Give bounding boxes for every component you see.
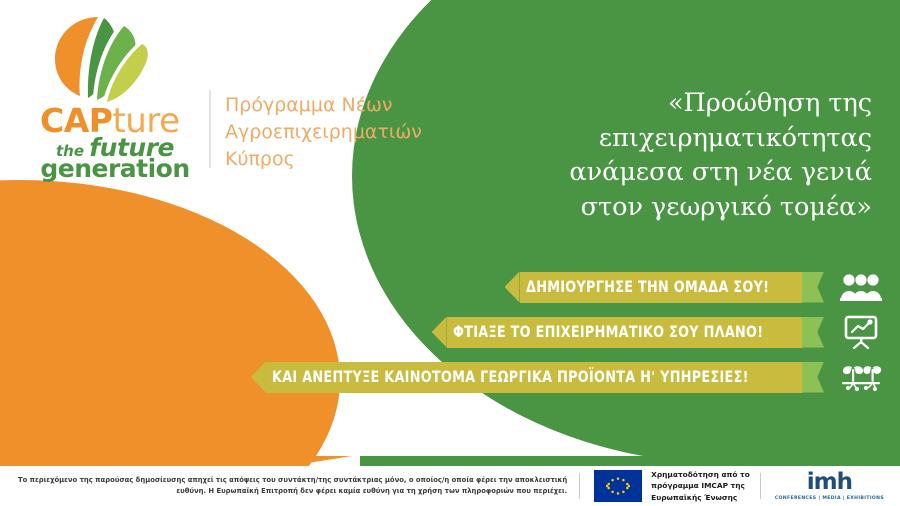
eu-funding-text: Χρηματοδότηση από το πρόγραμμα IMCAP της… xyxy=(651,469,750,503)
imh-logo: imh CONFERENCES | MEDIA | EXHIBITIONS xyxy=(761,471,900,501)
capture-leaf-logo-icon xyxy=(48,14,158,102)
ribbon-body: ΦΤΙΑΞΕ ΤΟ ΕΠΙΧΕΙΡΗΜΑΤΙΚΟ ΣΟΥ ΠΛΑΝΟ! xyxy=(447,317,802,348)
ribbon-body: ΔΗΜΙΟΥΡΓΗΣΕ ΤΗΝ ΟΜΑΔΑ ΣΟΥ! xyxy=(520,272,802,303)
ribbon-tail xyxy=(802,272,824,303)
ribbon-tail xyxy=(802,362,824,393)
logo-block: CAPture the future generation xyxy=(40,14,195,181)
disclaimer-text: Το περιεχόμενο της παρούσας δημοσίευσης … xyxy=(0,475,579,497)
two-seedlings-icon xyxy=(838,360,884,394)
ribbon-shape: ΦΤΙΑΞΕ ΤΟ ΕΠΙΧΕΙΡΗΜΑΤΙΚΟ ΣΟΥ ΠΛΑΝΟ! xyxy=(432,317,824,348)
programme-title: Πρόγραμμα Νέων Αγροεπιχειρηματιών Κύπρος xyxy=(225,92,422,173)
ribbon-body: ΚΑΙ ΑΝΕΠΤΥΞΕ ΚΑΙΝΟΤΟΜΑ ΓΕΩΡΓΙΚΑ ΠΡΟΪΟΝΤΑ… xyxy=(266,362,802,393)
eu-funding-block: Χρηματοδότηση από το πρόγραμμα IMCAP της… xyxy=(580,469,760,503)
three-people-icon xyxy=(838,270,884,304)
ribbon-arrow-head xyxy=(432,317,447,348)
imh-wordmark: imh xyxy=(775,471,884,494)
brand-divider xyxy=(209,90,211,168)
footer-bar-green xyxy=(360,456,900,466)
capture-wordmark: CAPture the future generation xyxy=(40,104,190,181)
ribbon-shape: ΚΑΙ ΑΝΕΠΤΥΞΕ ΚΑΙΝΟΤΟΜΑ ΓΕΩΡΓΙΚΑ ΠΡΟΪΟΝΤΑ… xyxy=(251,362,824,393)
ribbon-tail xyxy=(802,317,824,348)
brand-lockup: CAPture the future generation Πρόγραμμα … xyxy=(40,14,422,181)
ribbon-arrow-head xyxy=(251,362,266,393)
cta-label: ΚΑΙ ΑΝΕΠΤΥΞΕ ΚΑΙΝΟΤΟΜΑ ΓΕΩΡΓΙΚΑ ΠΡΟΪΟΝΤΑ… xyxy=(272,368,749,386)
presentation-board-icon xyxy=(838,315,884,349)
cta-label: ΦΤΙΑΞΕ ΤΟ ΕΠΙΧΕΙΡΗΜΑΤΙΚΟ ΣΟΥ ΠΛΑΝΟ! xyxy=(453,323,763,341)
cta-item-innovative-products[interactable]: ΚΑΙ ΑΝΕΠΤΥΞΕ ΚΑΙΝΟΤΟΜΑ ΓΕΩΡΓΙΚΑ ΠΡΟΪΟΝΤΑ… xyxy=(251,360,884,394)
headline-quote: «Προώθηση της επιχειρηματικότητας ανάμεσ… xyxy=(452,86,872,225)
wordmark-generation: generation xyxy=(40,156,190,181)
orange-fill-block xyxy=(0,330,20,460)
ribbon-shape: ΔΗΜΙΟΥΡΓΗΣΕ ΤΗΝ ΟΜΑΔΑ ΣΟΥ! xyxy=(505,272,824,303)
cta-label: ΔΗΜΙΟΥΡΓΗΣΕ ΤΗΝ ΟΜΑΔΑ ΣΟΥ! xyxy=(526,278,769,296)
poster-canvas: CAPture the future generation Πρόγραμμα … xyxy=(0,0,900,506)
european-union-flag xyxy=(594,470,642,502)
footer-bar-orange xyxy=(0,456,352,466)
cta-list: ΔΗΜΙΟΥΡΓΗΣΕ ΤΗΝ ΟΜΑΔΑ ΣΟΥ! xyxy=(251,270,884,405)
ribbon-arrow-head xyxy=(505,272,520,303)
footer-divider-bar xyxy=(0,456,900,466)
footer: Το περιεχόμενο της παρούσας δημοσίευσης … xyxy=(0,466,900,506)
cta-item-build-your-team[interactable]: ΔΗΜΙΟΥΡΓΗΣΕ ΤΗΝ ΟΜΑΔΑ ΣΟΥ! xyxy=(251,270,884,304)
imh-tagline: CONFERENCES | MEDIA | EXHIBITIONS xyxy=(775,496,884,501)
cta-item-business-plan[interactable]: ΦΤΙΑΞΕ ΤΟ ΕΠΙΧΕΙΡΗΜΑΤΙΚΟ ΣΟΥ ΠΛΑΝΟ! xyxy=(251,315,884,349)
